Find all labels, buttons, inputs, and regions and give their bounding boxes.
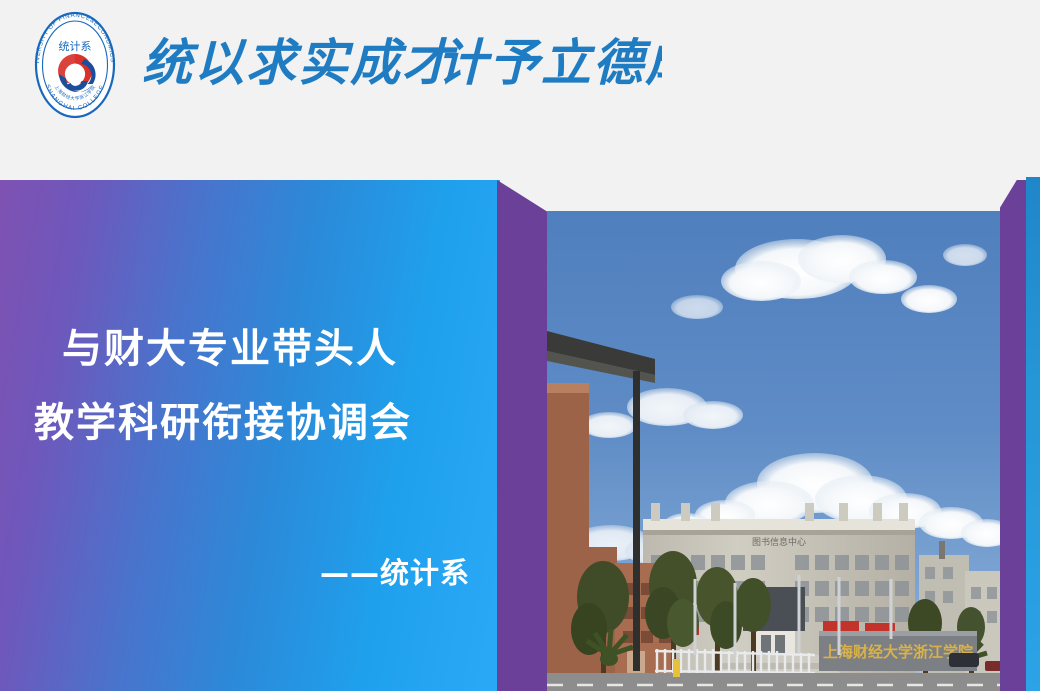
university-motto-calligraphy: 统以求实成才 计予立德成人 [142, 22, 662, 102]
campus-photograph: 图书信息中心 [547, 211, 1002, 691]
title-line-1: 与财大专业带头人 [34, 312, 484, 386]
title-line-2: 教学科研衔接协调会 [34, 386, 484, 460]
slide-body: 图书信息中心 [0, 177, 1040, 691]
header-banner: UNIVERSITY OF FINANCE&ECONOMICS ZJ SHANG… [0, 0, 1040, 177]
building-sign-text: 图书信息中心 [752, 536, 806, 548]
svg-text:统计系: 统计系 [59, 40, 92, 53]
motto-line-1: 统以求实成才 [142, 34, 458, 92]
purple-angled-wedge [497, 180, 549, 691]
motto-line-2: 计予立德成人 [437, 34, 662, 92]
presentation-slide-screen: UNIVERSITY OF FINANCE&ECONOMICS ZJ SHANG… [0, 0, 1040, 691]
slide-title: 与财大专业带头人 教学科研衔接协调会 [34, 312, 484, 460]
university-seal-logo: UNIVERSITY OF FINANCE&ECONOMICS ZJ SHANG… [25, 2, 125, 128]
right-blue-edge-strip [1026, 177, 1040, 691]
right-purple-band [1000, 180, 1028, 691]
slide-subtitle: ——统计系 [34, 550, 484, 592]
